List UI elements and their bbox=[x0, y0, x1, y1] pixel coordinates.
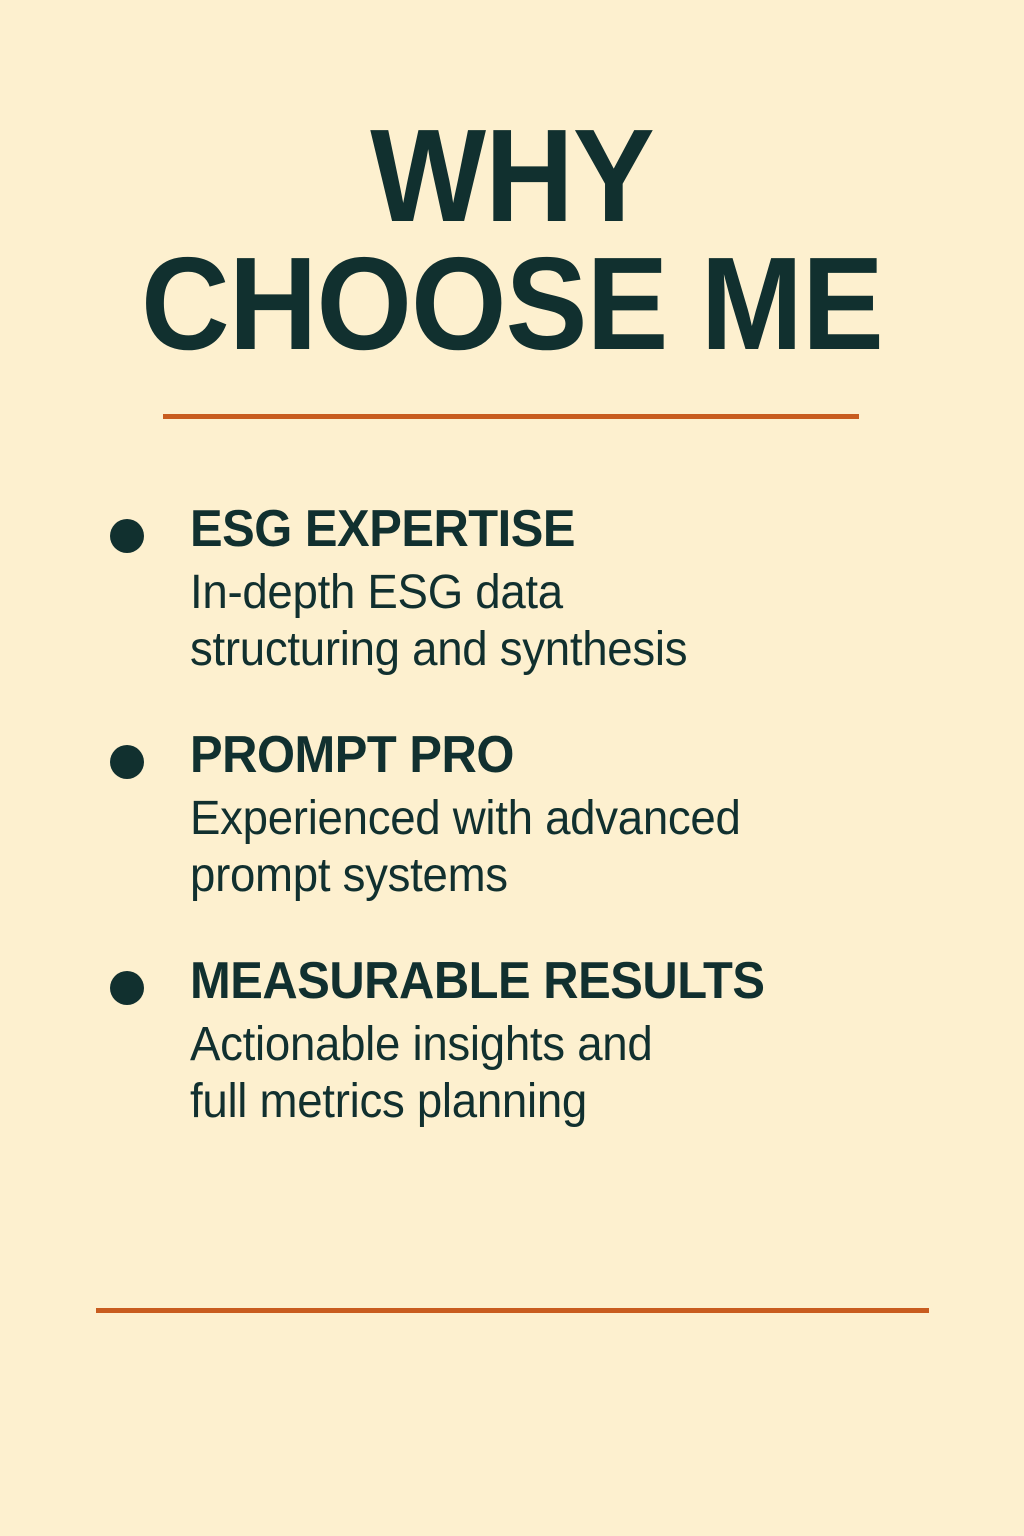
page-title-line-1: WHY bbox=[36, 112, 988, 240]
page-title-line-2: CHOOSE ME bbox=[36, 240, 988, 368]
list-item: PROMPT PRO Experienced with advanced pro… bbox=[0, 726, 1024, 904]
bullet-dot-icon bbox=[110, 745, 144, 779]
feature-description-line: Actionable insights and bbox=[190, 1016, 982, 1073]
feature-description-line: structuring and synthesis bbox=[190, 621, 982, 678]
feature-description-line: In-depth ESG data bbox=[190, 564, 982, 621]
feature-title-measurable-results: MEASURABLE RESULTS bbox=[190, 952, 974, 1010]
divider-top bbox=[163, 414, 859, 419]
feature-title-esg-expertise: ESG EXPERTISE bbox=[190, 500, 974, 558]
divider-bottom bbox=[96, 1308, 929, 1313]
feature-description-esg-expertise: In-depth ESG data structuring and synthe… bbox=[190, 564, 982, 678]
feature-title-prompt-pro: PROMPT PRO bbox=[190, 726, 974, 784]
feature-description-prompt-pro: Experienced with advanced prompt systems bbox=[190, 790, 982, 904]
bullet-dot-icon bbox=[110, 971, 144, 1005]
feature-description-line: full metrics planning bbox=[190, 1073, 982, 1130]
feature-description-line: prompt systems bbox=[190, 847, 982, 904]
feature-description-line: Experienced with advanced bbox=[190, 790, 982, 847]
list-item: ESG EXPERTISE In-depth ESG data structur… bbox=[0, 500, 1024, 678]
why-choose-me-poster: WHY CHOOSE ME ESG EXPERTISE In-depth ESG… bbox=[0, 0, 1024, 1536]
bullet-dot-icon bbox=[110, 519, 144, 553]
list-item: MEASURABLE RESULTS Actionable insights a… bbox=[0, 952, 1024, 1130]
feature-description-measurable-results: Actionable insights and full metrics pla… bbox=[190, 1016, 982, 1130]
page-title: WHY CHOOSE ME bbox=[0, 112, 1024, 368]
feature-list: ESG EXPERTISE In-depth ESG data structur… bbox=[0, 500, 1024, 1130]
